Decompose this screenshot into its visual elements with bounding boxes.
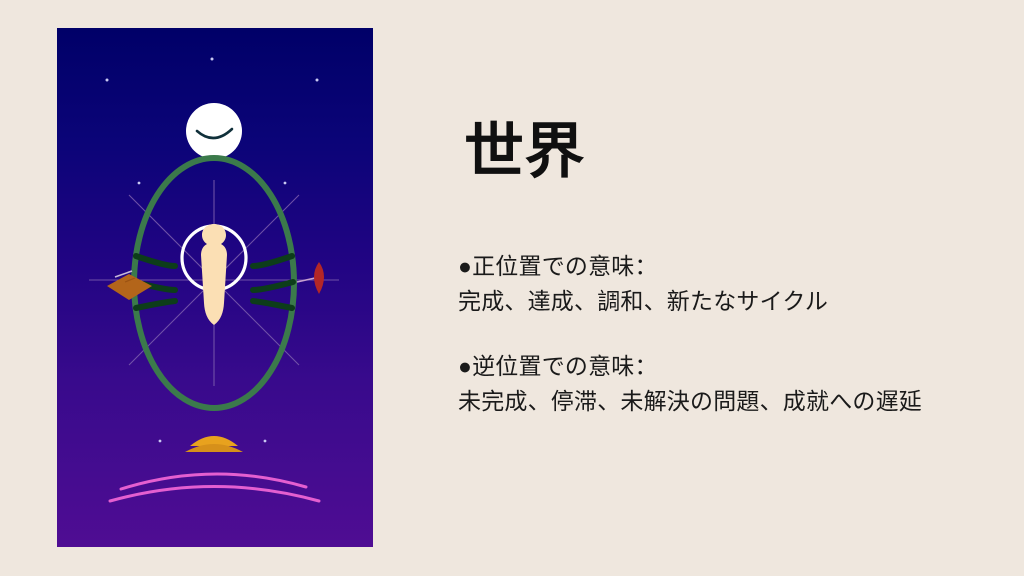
moon-icon — [186, 103, 242, 159]
reversed-heading: ●逆位置での意味： — [458, 349, 988, 384]
reversed-values: 未完成、停滞、未解決の問題、成就への遅延 — [458, 384, 988, 419]
slide-canvas: 世界 ●正位置での意味： 完成、達成、調和、新たなサイクル ●逆位置での意味： … — [0, 0, 1024, 576]
tarot-card-image — [57, 28, 373, 547]
meaning-block-upright: ●正位置での意味： 完成、達成、調和、新たなサイクル — [458, 249, 988, 319]
page-title: 世界 — [464, 120, 988, 185]
meaning-list: ●正位置での意味： 完成、達成、調和、新たなサイクル ●逆位置での意味： 未完成… — [458, 249, 988, 419]
meaning-block-reversed: ●逆位置での意味： 未完成、停滞、未解決の問題、成就への遅延 — [458, 349, 988, 419]
upright-heading: ●正位置での意味： — [458, 249, 988, 284]
upright-values: 完成、達成、調和、新たなサイクル — [458, 284, 988, 319]
text-column: 世界 ●正位置での意味： 完成、達成、調和、新たなサイクル ●逆位置での意味： … — [458, 120, 988, 419]
